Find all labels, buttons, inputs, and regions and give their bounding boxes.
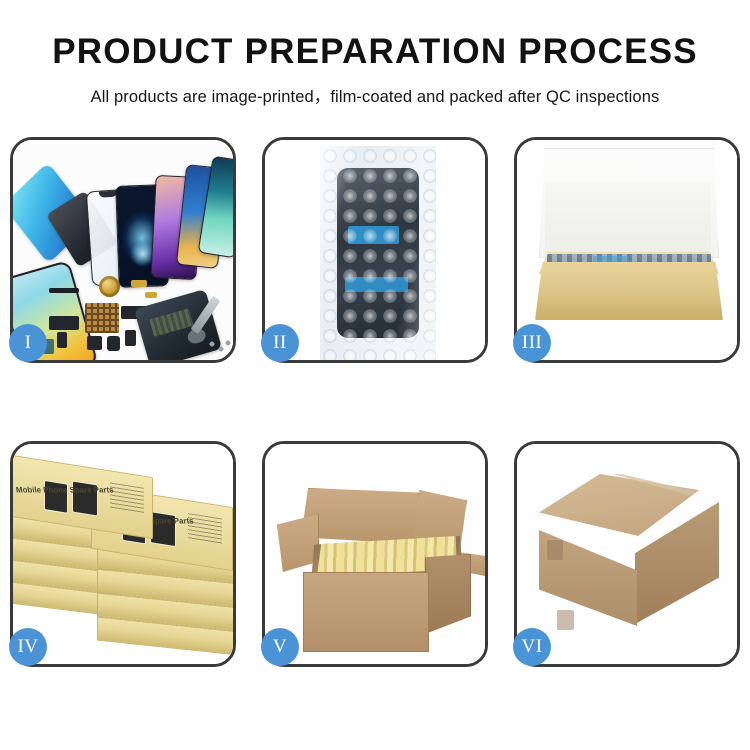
gold-connector-part: [131, 280, 147, 287]
step-badge-v: V: [261, 628, 299, 666]
mailer-tray: [535, 262, 723, 320]
battery-connector-part: [125, 330, 136, 346]
gold-flex-part: [145, 292, 157, 298]
step-badge-iii: III: [513, 324, 551, 362]
page-header: PRODUCT PREPARATION PROCESS All products…: [0, 0, 750, 107]
screws-group: [209, 340, 231, 352]
copper-shield-part: [85, 303, 119, 333]
process-step-panel: VI: [514, 441, 740, 667]
step-badge-ii: II: [261, 324, 299, 362]
mailer-lid-inner: [545, 182, 711, 264]
carton-front-face: [303, 572, 429, 652]
open-carton-scene: [265, 444, 485, 664]
process-step-panel: II: [262, 137, 488, 363]
page-title: PRODUCT PREPARATION PROCESS: [0, 34, 750, 69]
bubble-wrap-sheet: [320, 146, 436, 360]
step-image-vi: [517, 444, 737, 664]
step-image-iii: [517, 140, 737, 360]
step-badge-iv: IV: [9, 628, 47, 666]
sealed-carton-scene: [517, 444, 737, 664]
process-step-panel: III: [514, 137, 740, 363]
bubble-wrap-scene: [265, 140, 485, 360]
process-step-panel: I: [10, 137, 236, 363]
open-mailer-scene: [517, 140, 737, 360]
box-label-text: Mobile Phone Spare Parts: [15, 485, 114, 494]
step-image-i: [13, 140, 233, 360]
box-stack-scene: Mobile Phone Spare Parts Mobile Phone Sp…: [13, 444, 233, 664]
flex-cable-part: [49, 316, 79, 330]
process-step-grid: I II III: [10, 137, 740, 667]
copper-coil-part: [99, 276, 120, 297]
process-step-panel: V: [262, 441, 488, 667]
carton-side-face: [425, 554, 471, 634]
earpiece-mesh-part: [49, 288, 79, 293]
film-gloss-highlight: [320, 146, 436, 360]
carton-seam-tab-upper: [547, 540, 563, 560]
page-subtitle: All products are image-printed，film-coat…: [0, 83, 750, 107]
carton-top-face: [539, 474, 699, 536]
box-spec-lines: [110, 482, 144, 513]
step-image-iv: Mobile Phone Spare Parts Mobile Phone Sp…: [13, 444, 233, 664]
phone-parts-scene: [13, 140, 233, 360]
speaker-part: [107, 336, 120, 351]
process-step-panel: Mobile Phone Spare Parts Mobile Phone Sp…: [10, 441, 236, 667]
step-badge-vi: VI: [513, 628, 551, 666]
carton-seam-tab-lower: [557, 610, 574, 630]
camera-module-part: [87, 336, 102, 350]
step-image-v: [265, 444, 485, 664]
step-badge-i: I: [9, 324, 47, 362]
step-image-ii: [265, 140, 485, 360]
small-module-part: [57, 332, 67, 348]
